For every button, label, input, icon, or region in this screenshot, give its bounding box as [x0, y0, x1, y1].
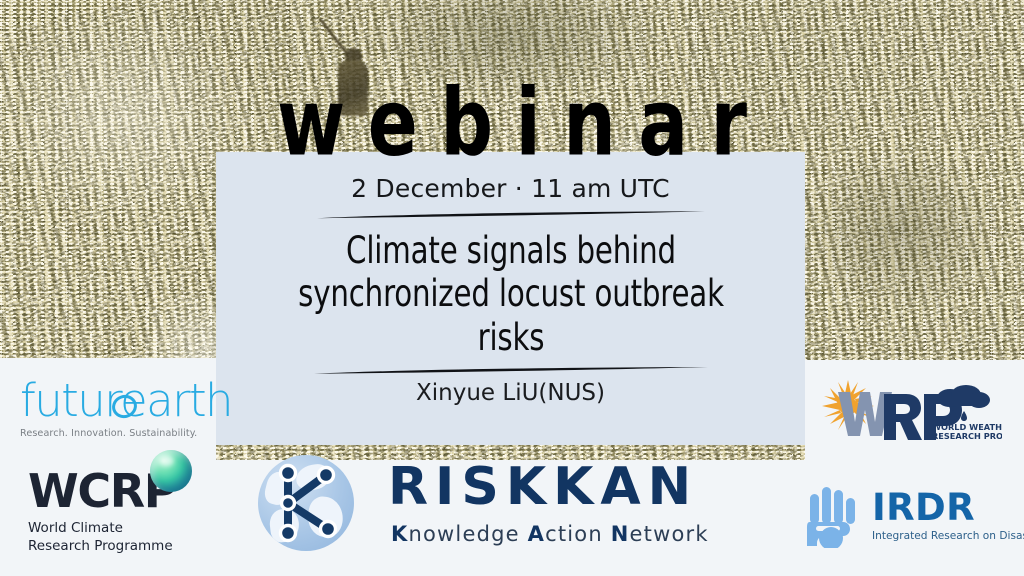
riskkan-subtitle-a: A [528, 522, 545, 546]
panel-content: 2 December · 11 am UTC Climate signals b… [216, 152, 805, 445]
riskkan-subtitle-n: N [611, 522, 630, 546]
webinar-title: Climate signals behind synchronized locu… [220, 229, 801, 359]
divider-rule-bottom [312, 365, 710, 377]
irdr-text-block: IRDR Integrated Research on Disaster Ris… [872, 489, 1024, 542]
webinar-datetime: 2 December · 11 am UTC [351, 174, 670, 203]
wcrp-globe-icon [150, 450, 192, 492]
webinar-speaker: Xinyue LiU(NUS) [416, 380, 605, 406]
riskkan-subtitle-k: K [391, 522, 408, 546]
riskkan-acronym: RISKKAN [388, 461, 709, 513]
irdr-subtitle: Integrated Research on Disaster Risk [872, 530, 1024, 542]
future-earth-wordmark: futurearth [20, 378, 202, 423]
riskkan-globe-icon [258, 455, 354, 551]
wwrp-cloud-icon [937, 385, 990, 408]
riskkan-subtitle-nowledge: nowledge [408, 522, 527, 546]
riskkan-subtitle-etwork: etwork [630, 522, 709, 546]
wcrp-subtitle-line-2: Research Programme [28, 538, 176, 556]
irdr-hand-icon [802, 482, 860, 548]
webinar-title-line-2: synchronized locust outbreak [220, 272, 801, 315]
logo-irdr: IRDR Integrated Research on Disaster Ris… [802, 482, 1024, 548]
webinar-title-line-3: risks [220, 316, 801, 359]
riskkan-subtitle: Knowledge Action Network [391, 522, 709, 546]
logo-riskkan: RISKKAN Knowledge Action Network [258, 455, 709, 551]
wcrp-subtitle-line-1: World Climate [28, 520, 176, 538]
logo-wwrp: WORLD WEATHER RESEARCH PROGRAMME [822, 378, 1002, 444]
webinar-poster: webinar 2 December · 11 am UTC Climate s… [0, 0, 1024, 576]
logo-wcrp: WCRP World Climate Research Programme [28, 468, 176, 556]
wwrp-logo-graphic: WORLD WEATHER RESEARCH PROGRAMME [822, 378, 1002, 444]
logo-future-earth: futurearth Research. Innovation. Sustain… [20, 378, 202, 439]
divider-rule-top [315, 209, 707, 221]
webinar-title-line-1: Climate signals behind [220, 229, 801, 272]
riskkan-network-k-icon [258, 455, 354, 551]
wwrp-subtitle-line-2: RESEARCH PROGRAMME [932, 431, 1002, 441]
wcrp-subtitle: World Climate Research Programme [28, 520, 176, 556]
irdr-acronym: IRDR [872, 489, 1024, 526]
riskkan-text-block: RISKKAN Knowledge Action Network [388, 461, 709, 546]
riskkan-subtitle-ction: ction [545, 522, 611, 546]
future-earth-tagline: Research. Innovation. Sustainability. [20, 428, 202, 439]
wcrp-acronym: WCRP [28, 468, 176, 514]
